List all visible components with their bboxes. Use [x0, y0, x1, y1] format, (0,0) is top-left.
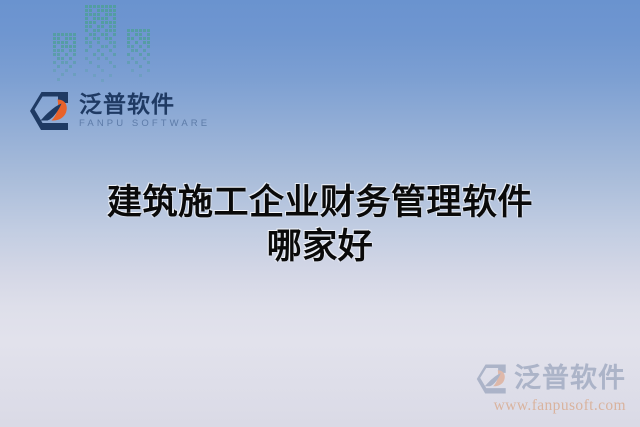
fanpu-logo-mark-icon — [28, 90, 72, 132]
fanpu-logo-mark-icon — [475, 363, 509, 395]
watermark-logo-row: 泛普软件 — [475, 363, 626, 395]
page-title: 建筑施工企业财务管理软件 哪家好 — [0, 181, 640, 269]
watermark: 泛普软件 www.fanpusoft.com — [475, 363, 626, 414]
title-line-1: 建筑施工企业财务管理软件 — [0, 181, 640, 225]
pixel-buildings-icon — [52, 0, 156, 86]
fanpu-header-logo: 泛普软件 FANPU SOFTWARE — [28, 90, 210, 132]
logo-name-cn: 泛普软件 — [79, 92, 210, 116]
watermark-url: www.fanpusoft.com — [494, 397, 626, 414]
title-line-2: 哪家好 — [0, 225, 640, 269]
promo-banner: 泛普软件 FANPU SOFTWARE 建筑施工企业财务管理软件 哪家好 泛普软… — [0, 0, 640, 427]
watermark-name-cn: 泛普软件 — [514, 365, 626, 392]
logo-name-en: FANPU SOFTWARE — [79, 119, 210, 129]
